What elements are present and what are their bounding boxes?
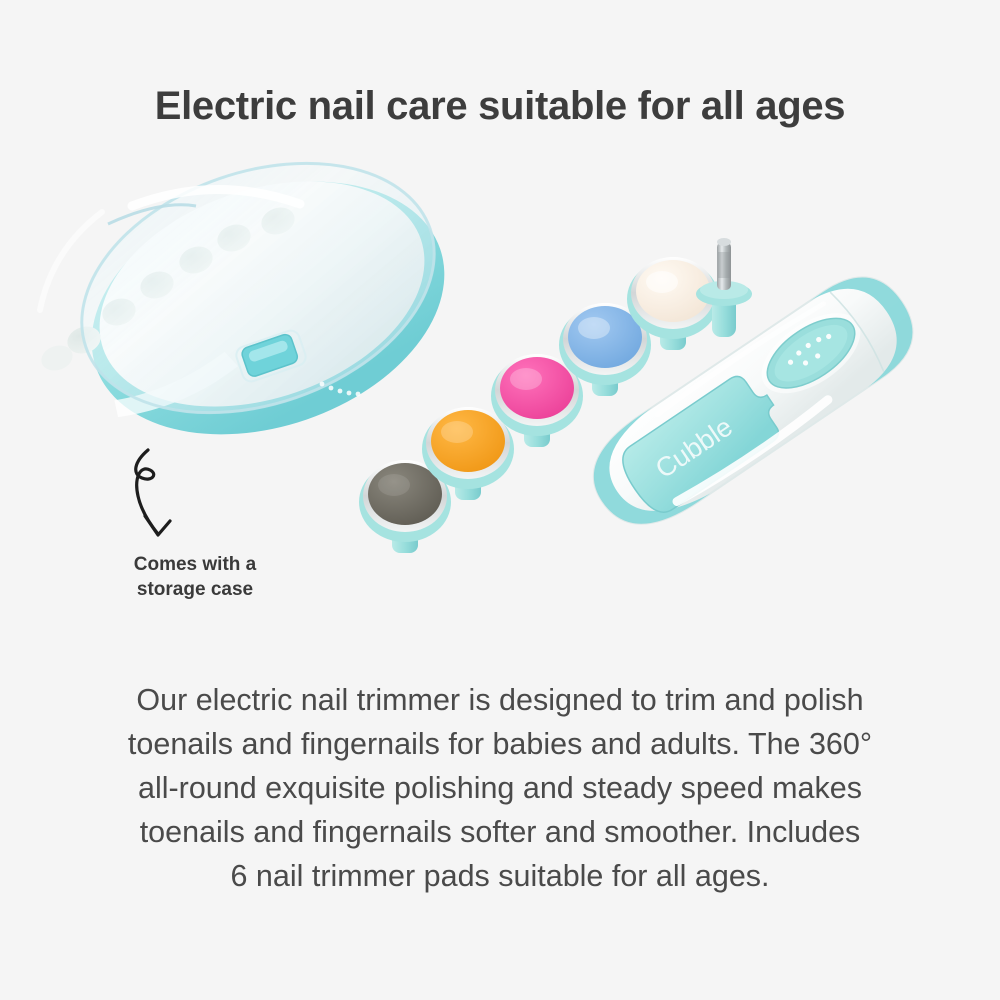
callout-line-1: Comes with a <box>95 552 295 577</box>
storage-case <box>38 160 479 479</box>
callout-text: Comes with a storage case <box>95 552 295 602</box>
body-line-1: Our electric nail trimmer is designed to… <box>50 678 950 722</box>
callout-arrow-icon <box>118 448 208 548</box>
page-title: Electric nail care suitable for all ages <box>0 84 1000 129</box>
body-line-3: all-round exquisite polishing and steady… <box>50 766 950 810</box>
callout-line-2: storage case <box>95 577 295 602</box>
body-line-4: toenails and fingernails softer and smoo… <box>50 810 950 854</box>
infographic-canvas: Electric nail care suitable for all ages <box>0 0 1000 1000</box>
body-line-5: 6 nail trimmer pads suitable for all age… <box>50 854 950 898</box>
body-copy: Our electric nail trimmer is designed to… <box>50 678 950 898</box>
body-line-2: toenails and fingernails for babies and … <box>50 722 950 766</box>
